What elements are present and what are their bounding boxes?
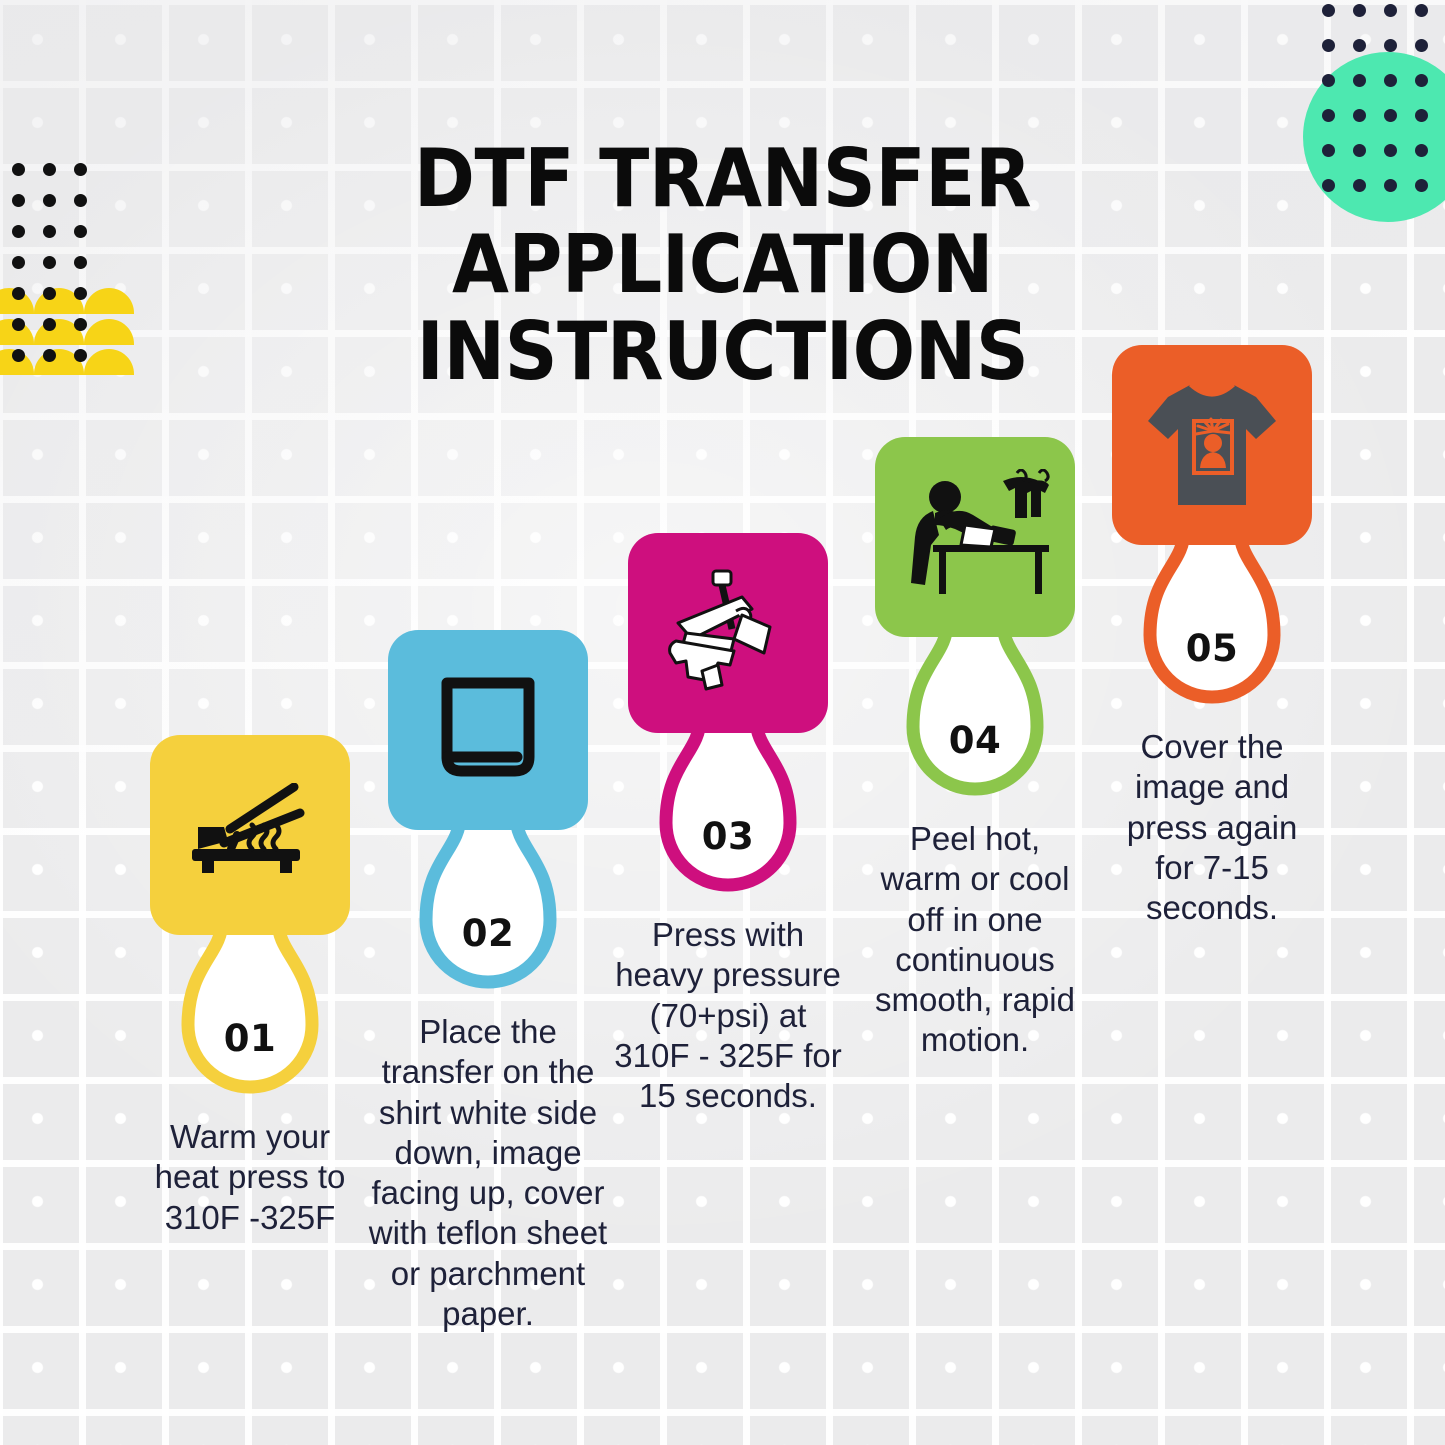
steps-container: 01 Warm your heat press to 310F -325F 02 <box>0 0 1445 1445</box>
step-item-4[interactable]: 04 Peel hot, warm or cool off in one con… <box>855 437 1095 1061</box>
transfer-sheet-icon <box>429 671 547 789</box>
step-4-number: 04 <box>895 719 1055 762</box>
heat-press-icon <box>184 783 316 887</box>
step-5-connector: 05 <box>1132 531 1292 711</box>
step-1-icon-card[interactable] <box>150 735 350 935</box>
step-item-3[interactable]: 03 Press with heavy pressure (70+psi) at… <box>608 533 848 1116</box>
step-item-5[interactable]: 05 Cover the image and press again for 7… <box>1092 345 1332 928</box>
step-1-caption: Warm your heat press to 310F -325F <box>135 1117 365 1238</box>
step-4-connector: 04 <box>895 623 1055 803</box>
step-5-caption: Cover the image and press again for 7-15… <box>1105 727 1320 928</box>
step-2-icon-card[interactable] <box>388 630 588 830</box>
step-1-connector: 01 <box>170 921 330 1101</box>
step-1-number: 01 <box>170 1017 330 1060</box>
printed-tshirt-icon <box>1140 377 1284 513</box>
step-4-caption: Peel hot, warm or cool off in one contin… <box>868 819 1083 1061</box>
step-3-number: 03 <box>648 815 808 858</box>
step-2-number: 02 <box>408 912 568 955</box>
step-5-icon-card[interactable] <box>1112 345 1312 545</box>
step-5-number: 05 <box>1132 627 1292 670</box>
step-3-caption: Press with heavy pressure (70+psi) at 31… <box>613 915 843 1116</box>
peeling-worker-icon <box>899 469 1051 605</box>
step-item-1[interactable]: 01 Warm your heat press to 310F -325F <box>130 735 370 1238</box>
heat-press-machine-icon <box>658 567 798 699</box>
step-2-connector: 02 <box>408 816 568 996</box>
step-item-2[interactable]: 02 Place the transfer on the shirt white… <box>368 630 608 1334</box>
step-3-connector: 03 <box>648 719 808 899</box>
step-4-icon-card[interactable] <box>875 437 1075 637</box>
step-3-icon-card[interactable] <box>628 533 828 733</box>
poster-canvas: DTF TRANSFER APPLICATION INSTRUCTIONS <box>0 0 1445 1445</box>
step-2-caption: Place the transfer on the shirt white si… <box>363 1012 613 1334</box>
